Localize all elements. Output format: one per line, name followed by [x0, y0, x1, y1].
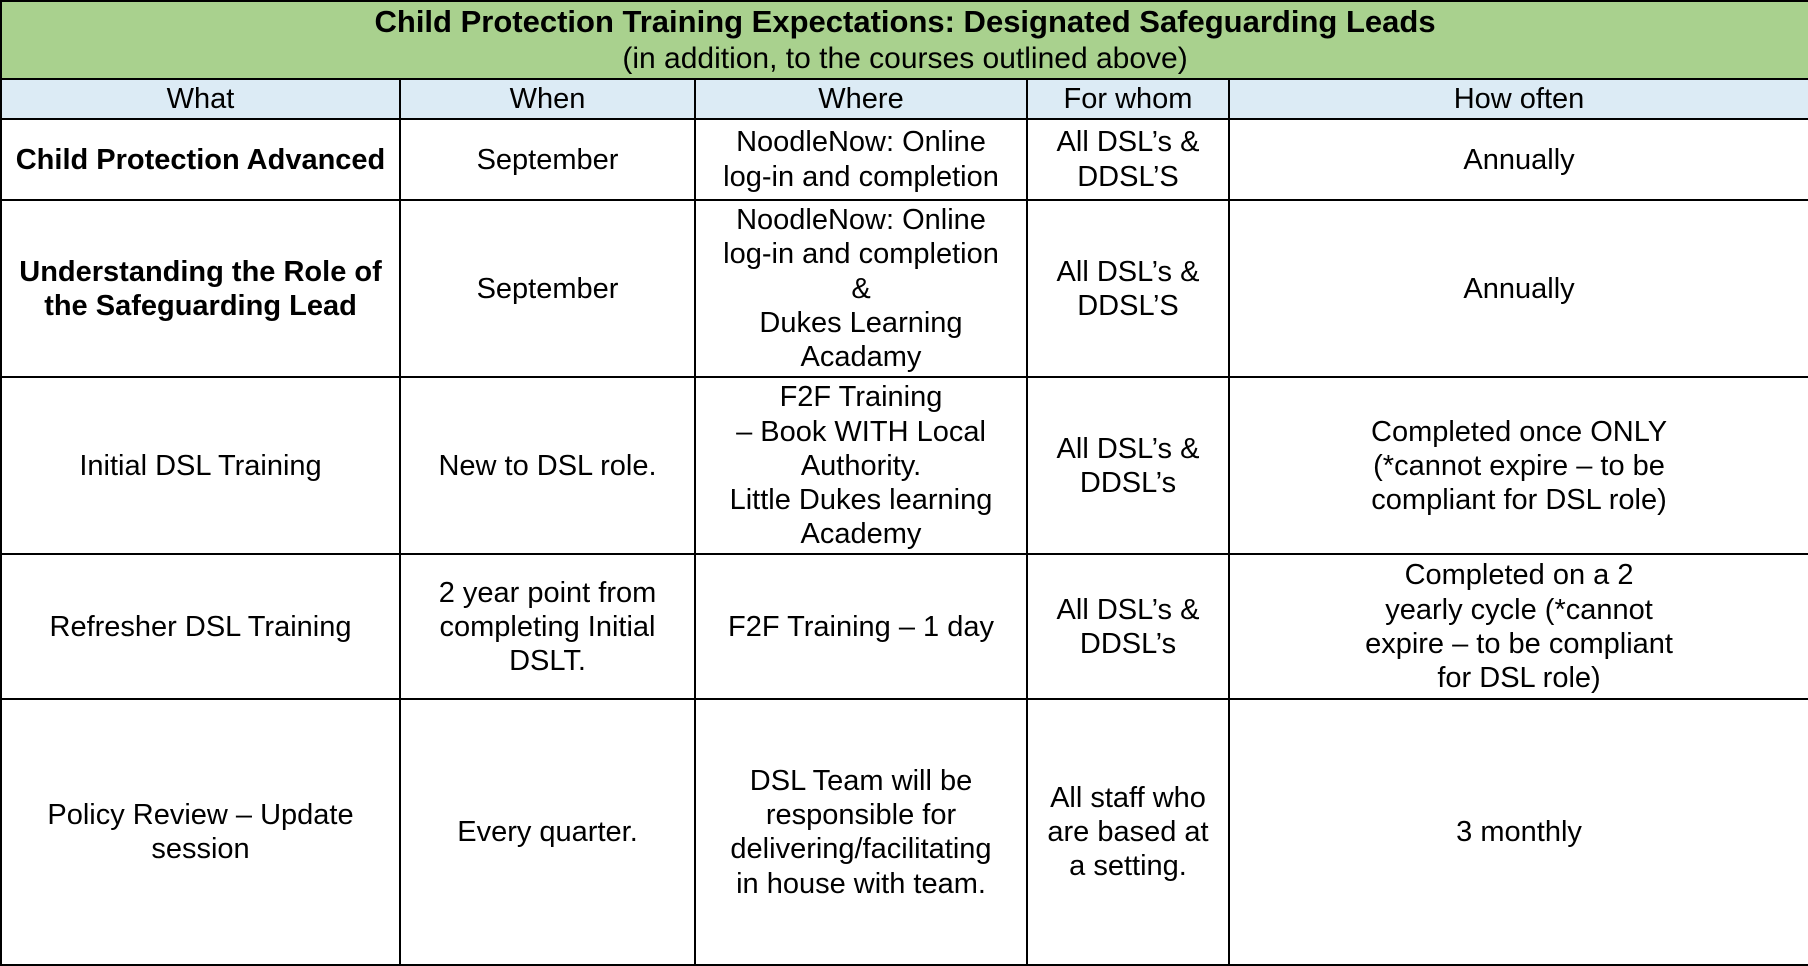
cell-what: Refresher DSL Training: [1, 554, 400, 699]
cell-for-whom: All DSL’s & DDSL’S: [1027, 200, 1229, 377]
table-row: Policy Review – Update session Every qua…: [1, 699, 1808, 965]
table-title-row: Child Protection Training Expectations: …: [1, 1, 1808, 79]
cell-where: F2F Training – 1 day: [695, 554, 1027, 699]
cell-for-whom: All DSL’s & DDSL’s: [1027, 377, 1229, 554]
column-header-how-often: How often: [1229, 79, 1808, 119]
cell-text: September: [407, 143, 688, 177]
cell-text: NoodleNow: Online log-in and completion …: [702, 203, 1020, 374]
cell-for-whom: All DSL’s & DDSL’S: [1027, 119, 1229, 200]
cell-when: 2 year point from completing Initial DSL…: [400, 554, 695, 699]
cell-text: All DSL’s & DDSL’s: [1034, 593, 1222, 661]
table-row: Understanding the Role of the Safeguardi…: [1, 200, 1808, 377]
cell-when: September: [400, 200, 695, 377]
column-header-when: When: [400, 79, 695, 119]
cell-text: Child Protection Advanced: [8, 143, 393, 177]
cell-text: September: [407, 272, 688, 306]
cell-what: Understanding the Role of the Safeguardi…: [1, 200, 400, 377]
cell-text: Annually: [1236, 272, 1802, 306]
table-row: Refresher DSL Training 2 year point from…: [1, 554, 1808, 699]
cell-text: All DSL’s & DDSL’s: [1034, 432, 1222, 500]
cell-text: All DSL’s & DDSL’S: [1034, 255, 1222, 323]
cell-what: Initial DSL Training: [1, 377, 400, 554]
cell-for-whom: All staff who are based at a setting.: [1027, 699, 1229, 965]
cell-how-often: Annually: [1229, 119, 1808, 200]
cell-for-whom: All DSL’s & DDSL’s: [1027, 554, 1229, 699]
cell-when: New to DSL role.: [400, 377, 695, 554]
cell-text: Completed on a 2 yearly cycle (*cannot e…: [1236, 558, 1802, 695]
cell-what: Child Protection Advanced: [1, 119, 400, 200]
cell-how-often: 3 monthly: [1229, 699, 1808, 965]
table-row: Child Protection Advanced September Nood…: [1, 119, 1808, 200]
column-header-what: What: [1, 79, 400, 119]
cell-text: 3 monthly: [1236, 815, 1802, 849]
table-title-line-2: (in addition, to the courses outlined ab…: [8, 41, 1802, 76]
cell-text: All DSL’s & DDSL’S: [1034, 125, 1222, 193]
table-title-line-1: Child Protection Training Expectations: …: [8, 4, 1802, 41]
cell-text: New to DSL role.: [407, 449, 688, 483]
cell-text: DSL Team will be responsible for deliver…: [702, 764, 1020, 901]
cell-when: Every quarter.: [400, 699, 695, 965]
cell-text: Refresher DSL Training: [8, 610, 393, 644]
cell-text: NoodleNow: Online log-in and completion: [702, 125, 1020, 193]
cell-text: Completed once ONLY (*cannot expire – to…: [1236, 415, 1802, 518]
column-header-for-whom: For whom: [1027, 79, 1229, 119]
table-row: Initial DSL Training New to DSL role. F2…: [1, 377, 1808, 554]
table-title: Child Protection Training Expectations: …: [1, 1, 1808, 79]
cell-how-often: Completed once ONLY (*cannot expire – to…: [1229, 377, 1808, 554]
cell-text: Initial DSL Training: [8, 449, 393, 483]
cell-text: Understanding the Role of the Safeguardi…: [8, 255, 393, 323]
training-expectations-sheet: Child Protection Training Expectations: …: [0, 0, 1808, 944]
cell-where: NoodleNow: Online log-in and completion …: [695, 200, 1027, 377]
cell-text: F2F Training – Book WITH Local Authority…: [702, 380, 1020, 551]
cell-where: DSL Team will be responsible for deliver…: [695, 699, 1027, 965]
cell-where: F2F Training – Book WITH Local Authority…: [695, 377, 1027, 554]
cell-where: NoodleNow: Online log-in and completion: [695, 119, 1027, 200]
cell-how-often: Completed on a 2 yearly cycle (*cannot e…: [1229, 554, 1808, 699]
cell-text: 2 year point from completing Initial DSL…: [407, 576, 688, 679]
cell-how-often: Annually: [1229, 200, 1808, 377]
table-header-row: What When Where For whom How often: [1, 79, 1808, 119]
cell-when: September: [400, 119, 695, 200]
cell-text: All staff who are based at a setting.: [1034, 781, 1222, 884]
column-header-where: Where: [695, 79, 1027, 119]
cell-what: Policy Review – Update session: [1, 699, 400, 965]
cell-text: Every quarter.: [407, 815, 688, 849]
cell-text: Policy Review – Update session: [8, 798, 393, 866]
cell-text: F2F Training – 1 day: [702, 610, 1020, 644]
training-expectations-table: Child Protection Training Expectations: …: [0, 0, 1808, 966]
cell-text: Annually: [1236, 143, 1802, 177]
